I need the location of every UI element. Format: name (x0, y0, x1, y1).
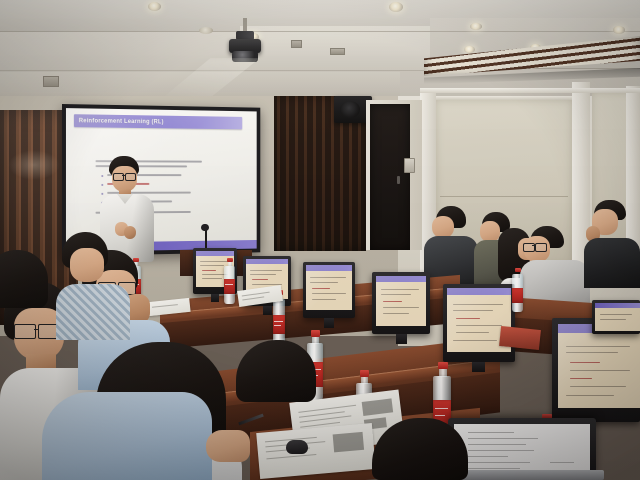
presenter-glasses (125, 173, 136, 181)
ceiling-downlight (199, 27, 213, 34)
water-bottle (512, 268, 524, 312)
door-handle[interactable] (397, 176, 400, 184)
screen-glare (66, 108, 257, 252)
attendee-hair (236, 340, 316, 402)
ceiling-vent (43, 76, 59, 87)
monitor (592, 300, 640, 334)
wood-wall-highlight (8, 150, 60, 180)
ceiling-downlight (389, 2, 403, 12)
attendee (584, 200, 640, 288)
monitor-glare (306, 265, 352, 310)
attendee-glasses-bridge (532, 245, 536, 246)
door[interactable] (370, 104, 410, 250)
attendee-hand (206, 430, 250, 462)
monitor-stand (396, 334, 407, 344)
attendee-shirt (584, 238, 640, 288)
bottle-cap (360, 370, 369, 377)
bottle-label (512, 288, 523, 303)
speaker-cone (340, 101, 360, 118)
attendee (236, 340, 324, 410)
lecture-room-photo: Reinforcement Learning (RL) (0, 0, 640, 480)
attendee (520, 226, 590, 310)
water-bottle (224, 258, 236, 304)
monitor-stand (324, 318, 334, 328)
monitor (443, 284, 515, 362)
ceiling-vent (291, 40, 302, 48)
monitor-screen (595, 303, 640, 331)
attendee (424, 206, 478, 286)
computer-mouse[interactable] (286, 440, 308, 454)
monitor-glare (558, 324, 640, 408)
monitor-slide-title-bar (595, 303, 640, 308)
ceiling-downlight (470, 23, 482, 30)
microphone-head (201, 224, 209, 231)
attendee-face (70, 248, 104, 282)
monitor (372, 272, 430, 334)
monitor-stand (472, 362, 485, 372)
bottle-cap (515, 268, 521, 272)
slide-title-bar: Reinforcement Learning (RL) (74, 114, 242, 129)
ceiling-vent (330, 48, 345, 55)
ceiling-downlight (464, 46, 475, 53)
ceiling-downlight (148, 2, 161, 11)
ceiling-downlight (613, 26, 625, 34)
attendee-face (432, 216, 454, 238)
monitor-glare (376, 276, 426, 326)
attendee-shoulder (42, 392, 212, 480)
wall-trim (436, 96, 572, 100)
bottle-cap (438, 362, 448, 369)
projection-screen-surface: Reinforcement Learning (RL) (66, 108, 257, 252)
attendee (56, 232, 130, 340)
wall-trim (420, 88, 640, 93)
monitor-stand (263, 306, 272, 315)
notebook[interactable] (499, 326, 541, 350)
light-switch[interactable] (404, 158, 415, 173)
attendee-glasses (535, 243, 547, 252)
monitor (303, 262, 355, 318)
bottle-cap (311, 330, 320, 337)
attendee-shirt (56, 284, 130, 340)
projector-mount (243, 18, 247, 32)
wall-panel-seam (440, 196, 568, 197)
monitor-stand (211, 294, 219, 302)
attendee-glasses-bridge (34, 329, 39, 330)
attendee-face (480, 221, 500, 242)
bottle-label (224, 279, 235, 294)
attendee-glasses (14, 324, 36, 339)
presenter-glasses-bridge (122, 175, 125, 176)
slide-title: Reinforcement Learning (RL) (74, 118, 164, 125)
